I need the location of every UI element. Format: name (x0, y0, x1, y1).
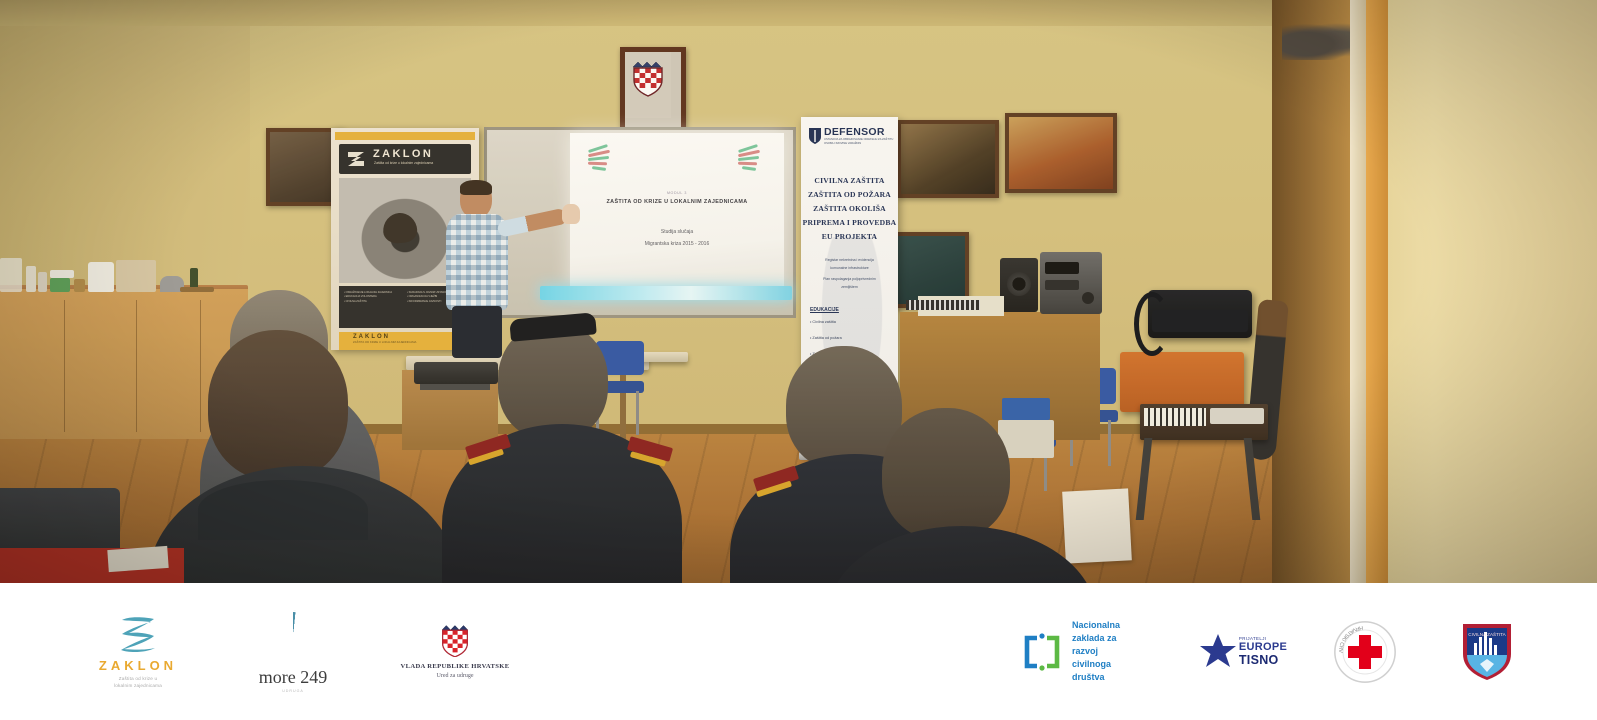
notebook (107, 546, 168, 572)
projection-screen: MODUL 3 ZAŠTITA OD KRIZE U LOKALNIM ZAJE… (570, 133, 784, 291)
logo-vlada-rh[interactable]: VLADA REPUBLIKE HRVATSKE Ured za udruge (370, 583, 540, 720)
orange-chair (1120, 352, 1244, 412)
defensor-heading-2: ZAŠTITA OD POŽARA (801, 189, 898, 201)
logo-zaklon[interactable]: ZAKLON Zaštita od krize u lokalnim zajed… (58, 583, 218, 720)
cabinet-seam-2 (136, 300, 137, 432)
logo-prijatelji-europe-tisno[interactable]: PRIJATELJI EUROPE TISNO (1178, 583, 1308, 720)
slide-subtitle: Studija slučaja (570, 229, 784, 235)
jar (74, 279, 85, 292)
logo-nacionalna-zaklada[interactable]: Nacionalna zaklada za razvoj civilnoga d… (1020, 583, 1170, 720)
defensor-shield-icon (808, 127, 822, 144)
defensor-brand-subtitle: USTANOVA ZA OBRAZOVANJE ODRASLIH ZA ZAŠT… (824, 138, 894, 145)
bottle-1 (26, 266, 36, 292)
loudspeaker (1000, 258, 1038, 312)
tote-bag (116, 260, 156, 292)
page-root: MODUL 3 ZAŠTITA OD KRIZE U LOKALNIM ZAJE… (0, 0, 1597, 720)
presenter-hand (562, 204, 580, 224)
counter-items (0, 258, 220, 292)
tray (180, 287, 214, 292)
logo-more249[interactable]: more 249 UDRUGA (228, 583, 358, 720)
defensor-paragraph-1: Registar nekretnina i evidencija (809, 257, 890, 263)
logo-crveni-kriz[interactable]: HRVATSKI CRVENI KRIŽ (1310, 583, 1420, 720)
vlada-line1: VLADA REPUBLIKE HRVATSKE (400, 663, 509, 670)
slide-title: ZAŠTITA OD KRIZE U LOKALNIM ZAJEDNICAMA (570, 199, 784, 205)
rollup-top-band (335, 132, 475, 140)
rollup-bullets-left: • OSNAŽIVANJE LOKALNIH ZAJEDNICA• EDUKAC… (344, 291, 402, 304)
vlada-line2: Ured za udruge (400, 673, 509, 679)
screen-light-strip (540, 286, 792, 300)
framed-coat-of-arms (620, 47, 686, 133)
more249-subtitle: UDRUGA (259, 689, 327, 693)
croatian-arms-icon (442, 625, 468, 657)
presenter-hair (460, 180, 492, 195)
defensor-edu-item-2: • Zaštita od požara (810, 336, 892, 342)
slide-logo-right (738, 145, 764, 171)
plastic-jug (0, 258, 22, 292)
bottle-2 (38, 272, 47, 292)
attendee-head-2 (208, 330, 348, 480)
classroom-photograph: MODUL 3 ZAŠTITA OD KRIZE U LOKALNIM ZAJE… (0, 0, 1597, 583)
framed-city-photo (897, 120, 999, 198)
door-trim (1366, 0, 1388, 583)
slide-eyebrow: MODUL 3 (570, 191, 784, 195)
nacionalna-zaklada-text: Nacionalna zaklada za razvoj civilnoga d… (1072, 619, 1120, 684)
defensor-paragraph-2: komunalne infrastrukture (809, 265, 890, 271)
zaklon-z-mark (345, 148, 367, 170)
more249-sunburst-icon (267, 610, 319, 662)
zaklon-z-icon (115, 614, 161, 654)
defensor-paragraph-4: zemljištem (809, 284, 890, 290)
hifi-stereo (1040, 252, 1102, 314)
rollup-brand: ZAKLON (373, 148, 433, 160)
defensor-heading-1: CIVILNA ZAŠTITA (801, 175, 898, 187)
prijatelji-line2: EUROPE (1239, 641, 1287, 653)
slide-detail: Migrantska kriza 2015 - 2016 (570, 241, 784, 247)
defensor-heading-3: ZAŠTITA OKOLIŠA (801, 203, 898, 215)
paper-stack (1062, 488, 1132, 563)
blue-folder (1002, 398, 1050, 420)
computer-keyboard (906, 300, 980, 310)
logo-civilna-zastita[interactable]: CIVILNA ZAŠTITA (1432, 583, 1542, 720)
attendee-head-3 (882, 408, 1010, 540)
ceiling (0, 0, 1350, 26)
defensor-edu-title: EDUKACIJE (810, 307, 839, 313)
projector (414, 362, 498, 384)
prijatelji-line3: TISNO (1239, 653, 1287, 667)
presenter-trousers (452, 306, 502, 358)
sponsor-logo-bar: ZAKLON Zaštita od krize u lokalnim zajed… (0, 583, 1597, 720)
red-cross-icon: HRVATSKI CRVENI KRIŽ (1334, 621, 1396, 683)
door-jamb (1350, 0, 1366, 583)
defensor-edu-item-1: • Civilna zaštita (810, 320, 892, 326)
framed-orchestra-photo (1005, 113, 1117, 193)
rollup-footer-subtitle: ZAŠTITA OD KRIZE U LOKALNIM ZAJEDNICAMA (353, 341, 416, 345)
laptop-bag (1148, 290, 1252, 338)
zaklon-subtitle: Zaštita od krize u lokalnim zajednicama (99, 676, 177, 690)
electric-kettle (88, 262, 114, 292)
svg-text:CIVILNA ZAŠTITA: CIVILNA ZAŠTITA (1468, 631, 1506, 637)
bag-strap (1134, 292, 1170, 356)
hoodie-hood (198, 480, 368, 540)
defensor-heading-5: EU PROJEKTA (801, 231, 898, 243)
civil-protection-shield-icon: CIVILNA ZAŠTITA (1460, 621, 1514, 683)
defensor-paragraph-3: Plan raspolaganja poljoprivrednim (809, 276, 890, 282)
defensor-brand: DEFENSOR (824, 126, 885, 138)
rollup-brand-subtitle: Zaštita od krize u lokalnim zajednicama (374, 161, 464, 166)
defensor-heading-4: PRIPREMA I PROVEDBA (801, 217, 898, 229)
nacionalna-zaklada-bracket-icon (1020, 630, 1064, 674)
cabinet-seam-3 (200, 300, 201, 432)
white-box (50, 270, 74, 278)
doorway (1272, 0, 1350, 583)
slide-logo-left (588, 145, 614, 171)
keyboard-panel (1210, 408, 1264, 424)
cabinet-seam-1 (64, 300, 65, 432)
more249-name: more 249 (259, 667, 327, 688)
piano-keys (1144, 408, 1206, 426)
star-icon (1199, 633, 1237, 671)
green-box (50, 278, 70, 292)
zaklon-name: ZAKLON (99, 658, 177, 673)
cart-shelf (420, 384, 490, 390)
